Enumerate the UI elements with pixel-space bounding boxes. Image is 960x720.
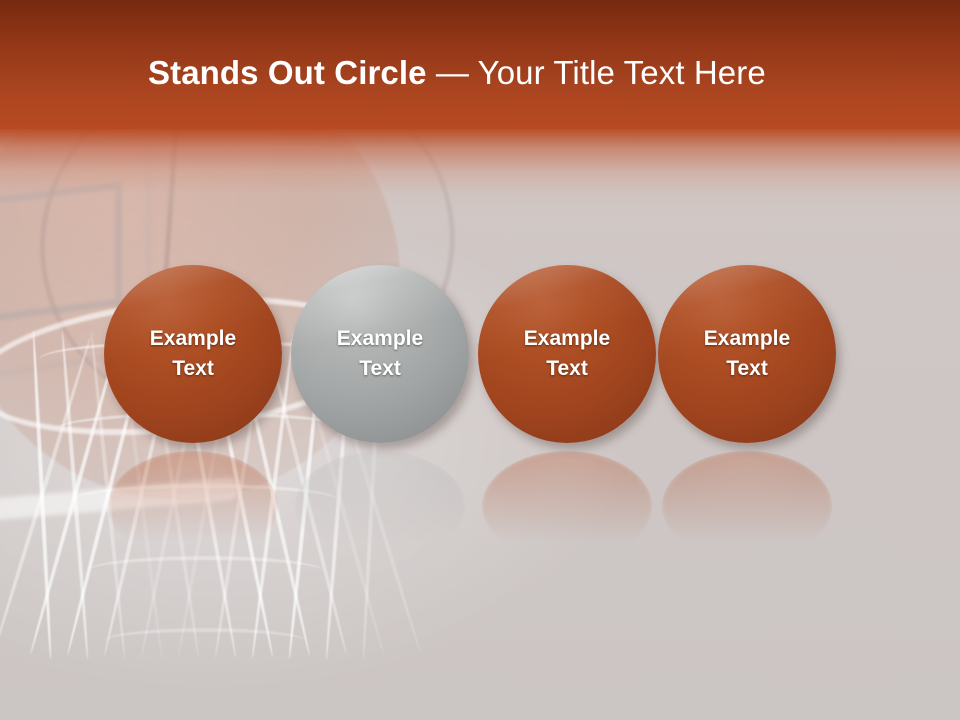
circle-reflection: [108, 451, 278, 561]
circle-label-line2: Text: [726, 354, 768, 384]
circle-node[interactable]: ExampleText: [478, 265, 656, 443]
page-title: Stands Out Circle — Your Title Text Here: [148, 53, 766, 93]
circle-label-line1: Example: [150, 324, 236, 354]
circle-reflection: [295, 451, 465, 561]
page-title-bold: Stands Out Circle: [148, 54, 427, 91]
title-band-fade: [0, 129, 960, 217]
circle-reflection: [662, 451, 832, 561]
circle-label-line2: Text: [546, 354, 588, 384]
slide-canvas: Stands Out Circle — Your Title Text Here…: [0, 0, 960, 720]
page-title-separator: —: [427, 54, 478, 91]
circle-label-line2: Text: [359, 354, 401, 384]
circle-label-line1: Example: [704, 324, 790, 354]
circle-node[interactable]: ExampleText: [104, 265, 282, 443]
circle-node[interactable]: ExampleText: [291, 265, 469, 443]
circle-label-line1: Example: [337, 324, 423, 354]
page-title-light: Your Title Text Here: [478, 54, 766, 91]
circle-shape[interactable]: ExampleText: [658, 265, 836, 443]
circle-label-line2: Text: [172, 354, 214, 384]
circle-reflection: [482, 451, 652, 561]
circle-shape[interactable]: ExampleText: [478, 265, 656, 443]
circle-shape[interactable]: ExampleText: [104, 265, 282, 443]
circle-shape[interactable]: ExampleText: [291, 265, 469, 443]
circle-label-line1: Example: [524, 324, 610, 354]
circle-node[interactable]: ExampleText: [658, 265, 836, 443]
